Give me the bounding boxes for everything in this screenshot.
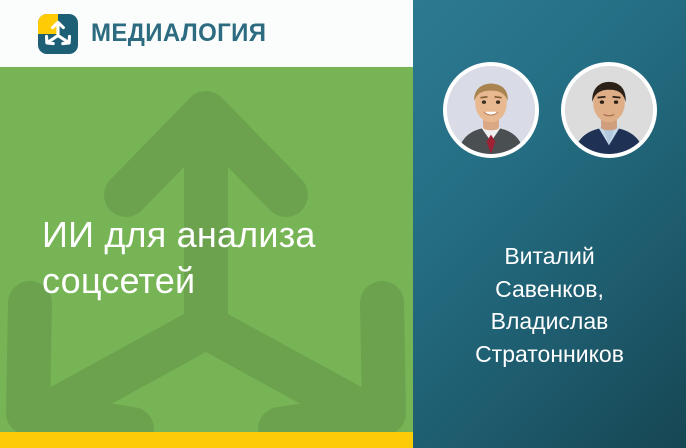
brand-wordmark: МЕДИАЛОГИЯ	[91, 21, 266, 46]
avatar-group	[413, 62, 686, 158]
speaker-names: Виталий Савенков, Владислав Стратонников	[423, 240, 676, 371]
speaker-avatar-vladislav-stratonnikov	[561, 62, 657, 158]
speaker-avatar-vitaliy-savenkov	[443, 62, 539, 158]
speakers-panel: Виталий Савенков, Владислав Стратонников	[413, 0, 686, 448]
page-title: ИИ для анализа соцсетей	[42, 212, 392, 304]
brand-header: МЕДИАЛОГИЯ	[0, 0, 413, 67]
webinar-cover: МЕДИАЛОГИЯ ИИ для анализа соцсетей	[0, 0, 686, 448]
accent-stripe	[0, 432, 413, 448]
medialogia-logo-icon	[38, 14, 78, 54]
title-panel: ИИ для анализа соцсетей	[0, 67, 413, 432]
